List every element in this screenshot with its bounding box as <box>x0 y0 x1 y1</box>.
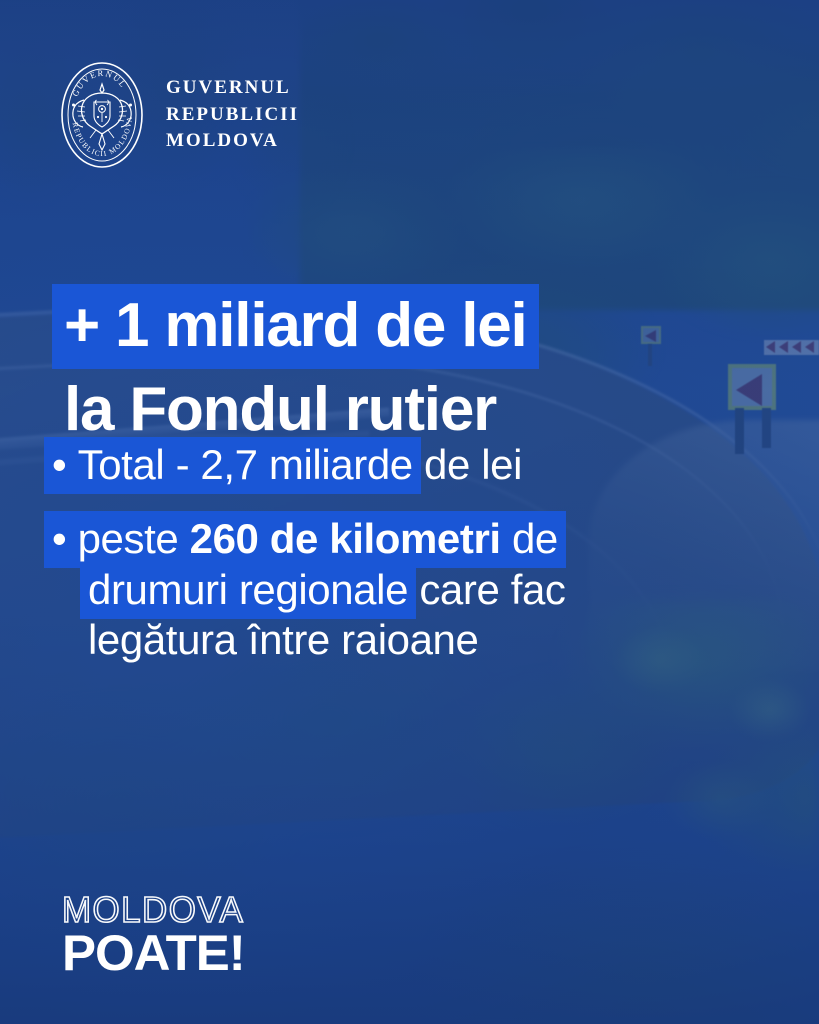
list-item: • Total - 2,7 miliarde de lei <box>52 440 772 490</box>
bullet-1-tail: de lei <box>413 441 522 488</box>
bullet-2-line2-wrap: drumuri regionale care fac <box>52 565 772 615</box>
brand-line-2: Republicii <box>166 102 299 129</box>
headline-line-1: + 1 miliard de lei <box>52 284 752 369</box>
bullet-2-highlight-line1: • peste 260 de kilometri de <box>52 511 558 568</box>
bullet-list: • Total - 2,7 miliarde de lei • peste 26… <box>52 440 772 666</box>
bullet-1-glyph: • <box>52 441 66 488</box>
brand-line-3: Moldova <box>166 128 299 155</box>
bullet-2-lead-text: peste <box>78 515 190 562</box>
poster-content: GUVERNUL REPUBLICII MOLDOVA <box>0 0 819 1024</box>
poster-canvas: GUVERNUL REPUBLICII MOLDOVA <box>0 0 819 1024</box>
bullet-2-bold-text: 260 de kilometri <box>190 515 501 562</box>
brand-text-block: Guvernul Republicii Moldova <box>166 75 299 156</box>
bullet-1-highlight: • Total - 2,7 miliarde <box>52 437 413 494</box>
bullet-2-line2-tail: care fac <box>408 566 565 613</box>
bullet-2-highlight-line2: drumuri regionale <box>88 562 408 619</box>
moldova-state-seal-icon: GUVERNUL REPUBLICII MOLDOVA <box>58 60 146 170</box>
bullet-2-line3: legătura între raioane <box>52 615 772 665</box>
bullet-2-glyph: • <box>52 515 66 562</box>
list-item: • peste 260 de kilometri de drumuri regi… <box>52 514 772 665</box>
headline-highlight: + 1 miliard de lei <box>52 284 539 369</box>
campaign-logo-bottom: POATE! <box>62 930 254 976</box>
bullet-1-strong-text: Total - 2,7 miliarde <box>78 441 413 488</box>
headline-line-2: la Fondul rutier <box>52 373 752 446</box>
campaign-logo: MOLDOVA POATE! <box>62 893 250 976</box>
campaign-logo-top: MOLDOVA <box>62 893 244 928</box>
government-brand-lockup: GUVERNUL REPUBLICII MOLDOVA <box>58 60 299 170</box>
headline-block: + 1 miliard de lei la Fondul rutier <box>52 284 752 446</box>
brand-line-1: Guvernul <box>166 75 299 102</box>
bullet-2-line1-tail: de <box>501 515 558 562</box>
campaign-logo-top-text: MOLDOVA <box>62 893 244 928</box>
